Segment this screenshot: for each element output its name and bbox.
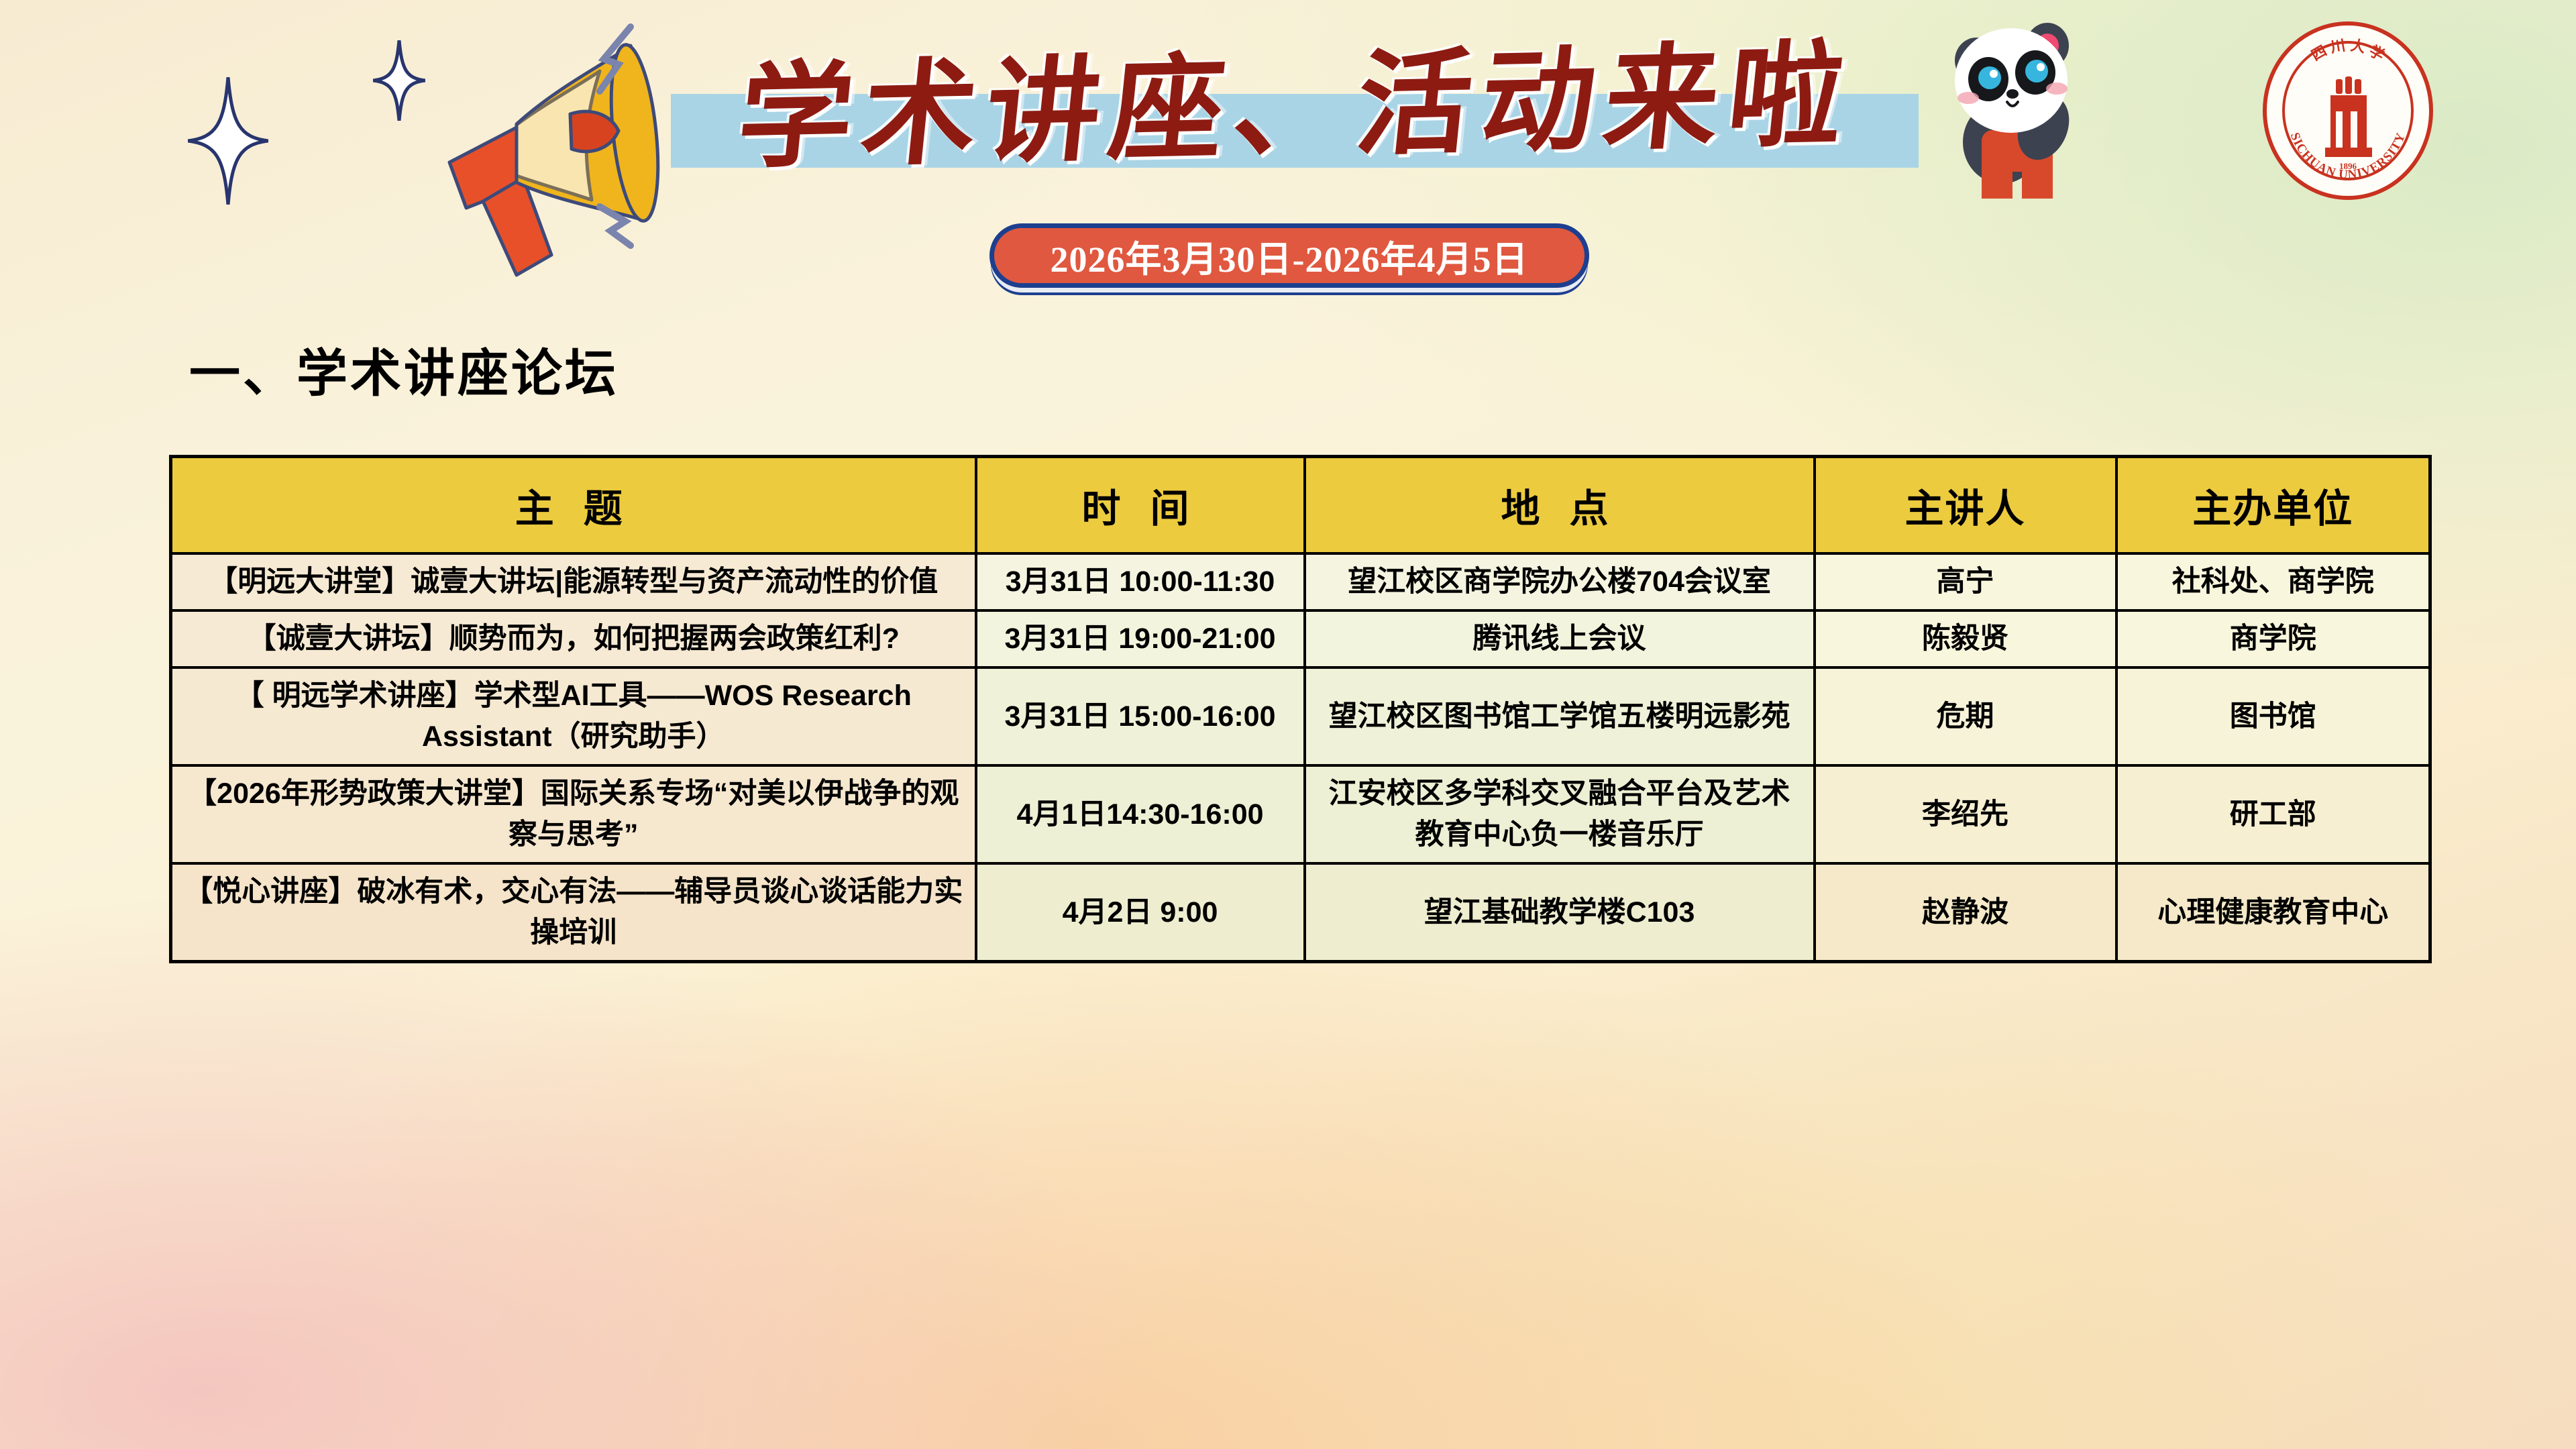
page-title: 学术讲座、活动来啦	[669, 28, 1921, 201]
cell-time: 4月1日14:30-16:00	[976, 765, 1305, 863]
cell-speaker: 赵静波	[1815, 863, 2116, 962]
panda-mascot-icon	[1932, 8, 2133, 223]
column-header-org: 主办单位	[2116, 457, 2430, 554]
cell-time: 3月31日 10:00-11:30	[976, 553, 1305, 610]
cell-org: 心理健康教育中心	[2116, 863, 2430, 962]
cell-topic: 【2026年形势政策大讲堂】国际关系专场“对美以伊战争的观察与思考”	[171, 765, 976, 863]
table-row: 【诚壹大讲坛】顺势而为，如何把握两会政策红利? 3月31日 19:00-21:0…	[171, 610, 2430, 667]
cell-time: 4月2日 9:00	[976, 863, 1305, 962]
column-header-time: 时 间	[976, 457, 1305, 554]
table-row: 【 明远学术讲座】学术型AI工具——WOS Research Assistant…	[171, 667, 2430, 765]
date-range-text: 2026年3月30日-2026年4月5日	[1051, 229, 1529, 282]
schedule-table: 主 题 时 间 地 点 主讲人 主办单位 【明远大讲堂】诚壹大讲坛|能源转型与资…	[169, 455, 2432, 963]
cell-org: 研工部	[2116, 765, 2430, 863]
cell-topic: 【明远大讲堂】诚壹大讲坛|能源转型与资产流动性的价值	[171, 553, 976, 610]
cell-speaker: 危期	[1815, 667, 2116, 765]
table-row: 【2026年形势政策大讲堂】国际关系专场“对美以伊战争的观察与思考” 4月1日1…	[171, 765, 2430, 863]
cell-place: 腾讯线上会议	[1305, 610, 1815, 667]
cell-topic: 【 明远学术讲座】学术型AI工具——WOS Research Assistant…	[171, 667, 976, 765]
cell-place: 望江校区商学院办公楼704会议室	[1305, 553, 1815, 610]
cell-topic: 【诚壹大讲坛】顺势而为，如何把握两会政策红利?	[171, 610, 976, 667]
poster-header: 学术讲座、活动来啦 2026年3月30日-2026年4月5日	[0, 0, 2576, 315]
cell-time: 3月31日 19:00-21:00	[976, 610, 1305, 667]
cell-speaker: 陈毅贤	[1815, 610, 2116, 667]
cell-org: 商学院	[2116, 610, 2430, 667]
column-header-topic: 主 题	[171, 457, 976, 554]
cell-org: 图书馆	[2116, 667, 2430, 765]
cell-speaker: 李绍先	[1815, 765, 2116, 863]
column-header-place: 地 点	[1305, 457, 1815, 554]
table-row: 【悦心讲座】破冰有术，交心有法——辅导员谈心谈话能力实操培训 4月2日 9:00…	[171, 863, 2430, 962]
schedule-table-wrap: 主 题 时 间 地 点 主讲人 主办单位 【明远大讲堂】诚壹大讲坛|能源转型与资…	[169, 455, 2428, 963]
cell-place: 望江校区图书馆工学馆五楼明远影苑	[1305, 667, 1815, 765]
column-header-speaker: 主讲人	[1815, 457, 2116, 554]
scu-logo-icon: 1896 四 川 大 学 SICHUAN UNIVERSITY	[2261, 20, 2435, 201]
date-range-badge: 2026年3月30日-2026年4月5日	[989, 223, 1589, 288]
sparkle-icon	[188, 77, 268, 205]
cell-place: 望江基础教学楼C103	[1305, 863, 1815, 962]
cell-org: 社科处、商学院	[2116, 553, 2430, 610]
table-header-row: 主 题 时 间 地 点 主讲人 主办单位	[171, 457, 2430, 554]
poster-canvas: 学术讲座、活动来啦 2026年3月30日-2026年4月5日	[0, 0, 2576, 1449]
cell-topic: 【悦心讲座】破冰有术，交心有法——辅导员谈心谈话能力实操培训	[171, 863, 976, 962]
table-row: 【明远大讲堂】诚壹大讲坛|能源转型与资产流动性的价值 3月31日 10:00-1…	[171, 553, 2430, 610]
section-heading: 一、学术讲座论坛	[189, 332, 619, 406]
cell-speaker: 高宁	[1815, 553, 2116, 610]
cell-time: 3月31日 15:00-16:00	[976, 667, 1305, 765]
cell-place: 江安校区多学科交叉融合平台及艺术教育中心负一楼音乐厅	[1305, 765, 1815, 863]
